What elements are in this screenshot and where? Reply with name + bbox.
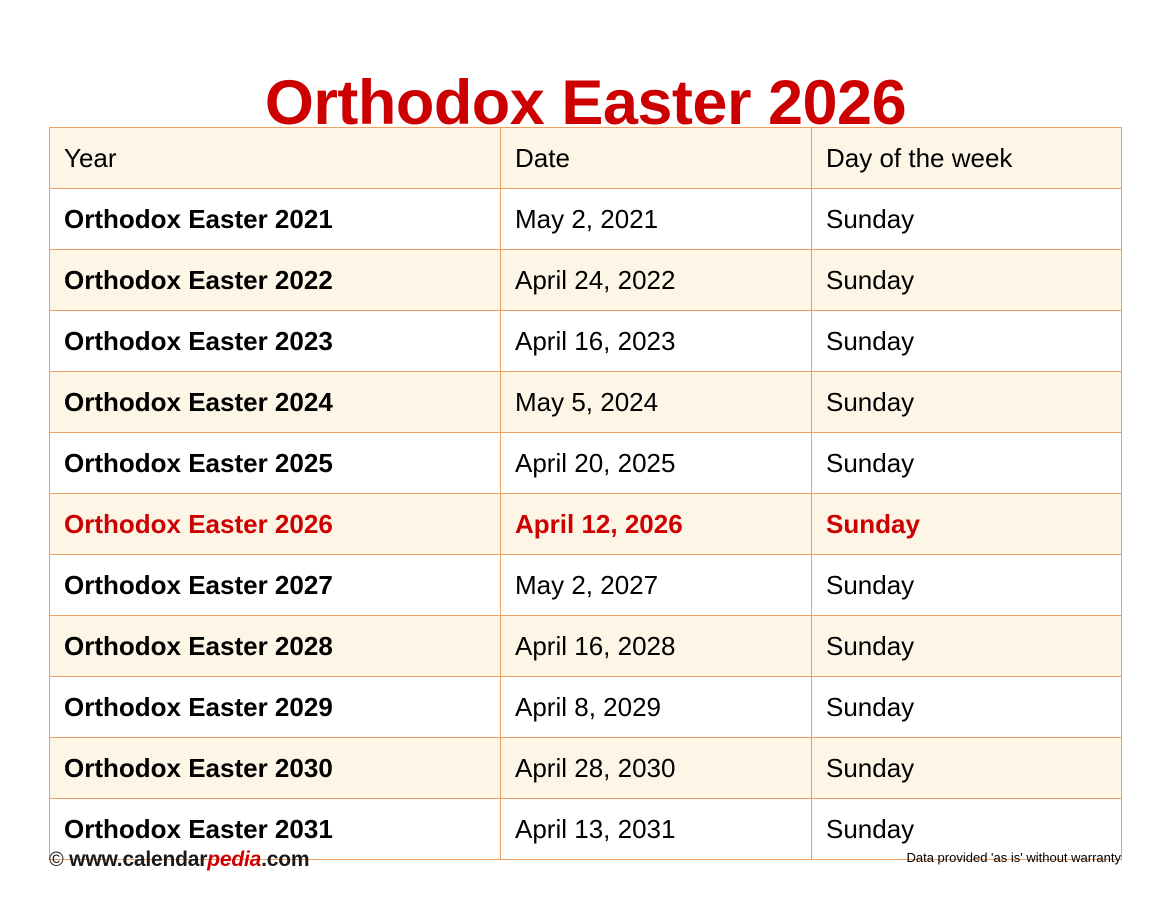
cell-date: May 5, 2024	[501, 372, 812, 433]
calendar-page: Orthodox Easter 2026 Year Date Day of th…	[0, 0, 1171, 924]
site-name-highlight: pedia	[207, 848, 261, 871]
table-row: Orthodox Easter 2026April 12, 2026Sunday	[50, 494, 1122, 555]
cell-date: May 2, 2021	[501, 189, 812, 250]
cell-day-of-week: Sunday	[812, 311, 1122, 372]
table-row: Orthodox Easter 2030April 28, 2030Sunday	[50, 738, 1122, 799]
cell-date: April 20, 2025	[501, 433, 812, 494]
cell-day-of-week: Sunday	[812, 189, 1122, 250]
cell-year: Orthodox Easter 2028	[50, 616, 501, 677]
table-header: Year Date Day of the week	[50, 128, 1122, 189]
cell-date: May 2, 2027	[501, 555, 812, 616]
table-row: Orthodox Easter 2025April 20, 2025Sunday	[50, 433, 1122, 494]
easter-dates-table-wrapper: Year Date Day of the week Orthodox Easte…	[49, 127, 1121, 860]
cell-date: April 16, 2023	[501, 311, 812, 372]
disclaimer-text: Data provided 'as is' without warranty	[906, 850, 1121, 865]
cell-year: Orthodox Easter 2030	[50, 738, 501, 799]
table-row: Orthodox Easter 2029April 8, 2029Sunday	[50, 677, 1122, 738]
cell-year: Orthodox Easter 2026	[50, 494, 501, 555]
cell-year: Orthodox Easter 2023	[50, 311, 501, 372]
site-name-suffix: .com	[261, 848, 309, 871]
cell-date: April 8, 2029	[501, 677, 812, 738]
cell-year: Orthodox Easter 2024	[50, 372, 501, 433]
site-name-prefix: www.calendar	[64, 848, 208, 871]
cell-year: Orthodox Easter 2027	[50, 555, 501, 616]
cell-year: Orthodox Easter 2021	[50, 189, 501, 250]
cell-date: April 24, 2022	[501, 250, 812, 311]
table-header-row: Year Date Day of the week	[50, 128, 1122, 189]
cell-date: April 16, 2028	[501, 616, 812, 677]
easter-dates-table: Year Date Day of the week Orthodox Easte…	[49, 127, 1122, 860]
table-row: Orthodox Easter 2024May 5, 2024Sunday	[50, 372, 1122, 433]
cell-day-of-week: Sunday	[812, 372, 1122, 433]
cell-date: April 12, 2026	[501, 494, 812, 555]
cell-day-of-week: Sunday	[812, 677, 1122, 738]
table-body: Orthodox Easter 2021May 2, 2021SundayOrt…	[50, 189, 1122, 860]
cell-day-of-week: Sunday	[812, 433, 1122, 494]
column-header-year: Year	[50, 128, 501, 189]
cell-date: April 28, 2030	[501, 738, 812, 799]
cell-day-of-week: Sunday	[812, 616, 1122, 677]
table-row: Orthodox Easter 2027May 2, 2027Sunday	[50, 555, 1122, 616]
copyright-notice: © www.calendarpedia.com	[49, 848, 309, 872]
cell-year: Orthodox Easter 2025	[50, 433, 501, 494]
copyright-icon: ©	[49, 849, 64, 871]
cell-year: Orthodox Easter 2029	[50, 677, 501, 738]
cell-day-of-week: Sunday	[812, 494, 1122, 555]
column-header-date: Date	[501, 128, 812, 189]
table-row: Orthodox Easter 2023April 16, 2023Sunday	[50, 311, 1122, 372]
page-footer: © www.calendarpedia.com Data provided 'a…	[49, 848, 1121, 888]
cell-day-of-week: Sunday	[812, 250, 1122, 311]
cell-year: Orthodox Easter 2022	[50, 250, 501, 311]
cell-day-of-week: Sunday	[812, 555, 1122, 616]
table-row: Orthodox Easter 2022April 24, 2022Sunday	[50, 250, 1122, 311]
table-row: Orthodox Easter 2021May 2, 2021Sunday	[50, 189, 1122, 250]
cell-day-of-week: Sunday	[812, 738, 1122, 799]
table-row: Orthodox Easter 2028April 16, 2028Sunday	[50, 616, 1122, 677]
column-header-day: Day of the week	[812, 128, 1122, 189]
